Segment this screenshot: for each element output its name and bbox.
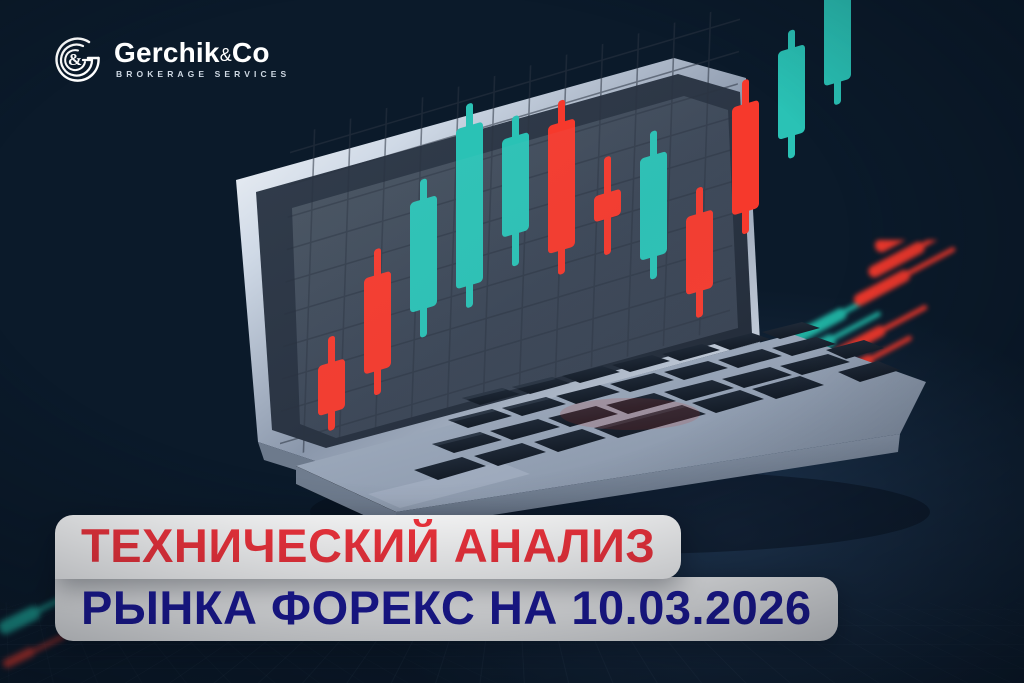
brand-name-main: Gerchik — [114, 37, 220, 68]
title-line-2: РЫНКА ФОРЕКС НА 10.03.2026 — [81, 583, 812, 633]
title-line-1: ТЕХНИЧЕСКИЙ АНАЛИЗ — [81, 521, 655, 571]
poster-canvas: ТЕХНИЧЕСКИЙ АНАЛИЗ РЫНКА ФОРЕКС НА 10.03… — [0, 0, 1024, 683]
title-banner-line2: РЫНКА ФОРЕКС НА 10.03.2026 — [55, 577, 838, 641]
brand-tagline: BROKERAGE SERVICES — [114, 70, 290, 79]
background-candles-right — [704, 240, 1024, 440]
brand-name-ampersand: & — [220, 45, 232, 65]
brand-name: Gerchik&Co — [114, 39, 290, 67]
title-banner: ТЕХНИЧЕСКИЙ АНАЛИЗ РЫНКА ФОРЕКС НА 10.03… — [55, 515, 838, 641]
svg-text:&: & — [68, 50, 82, 69]
gerchik-logo-icon: & — [52, 34, 102, 84]
brand-name-suffix: Co — [232, 37, 270, 68]
brand-logo[interactable]: & Gerchik&Co BROKERAGE SERVICES — [52, 34, 290, 84]
brand-logo-text: Gerchik&Co BROKERAGE SERVICES — [114, 39, 290, 79]
title-banner-line1: ТЕХНИЧЕСКИЙ АНАЛИЗ — [55, 515, 681, 579]
